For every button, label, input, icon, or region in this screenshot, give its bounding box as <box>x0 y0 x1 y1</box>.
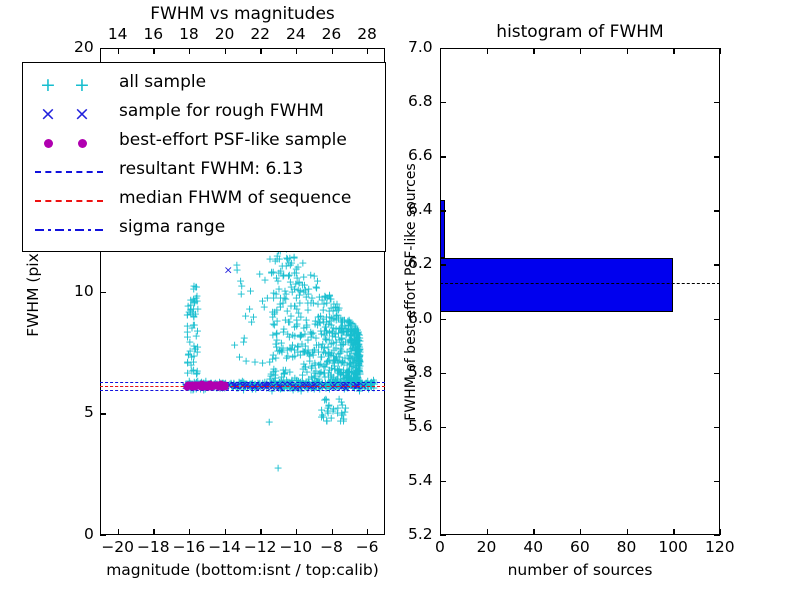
y-tick <box>440 535 446 536</box>
x-tick-label: −20 <box>101 540 134 556</box>
x-tick-label: 40 <box>523 540 543 556</box>
right-panel-xlabel: number of sources <box>508 563 653 579</box>
x-tick <box>487 529 488 535</box>
x-tick-label: 120 <box>705 540 735 556</box>
y-tick <box>100 48 106 49</box>
right-y-tick <box>714 535 720 536</box>
reference-line <box>100 382 385 383</box>
y-tick-label: 5.4 <box>408 473 433 489</box>
data-point-plus: + <box>274 463 283 474</box>
x-tick <box>533 529 534 535</box>
data-point-plus: + <box>326 293 335 304</box>
y-tick <box>440 373 446 374</box>
data-point-plus: + <box>245 303 254 314</box>
x-tick <box>153 529 154 535</box>
top-x-tick <box>118 48 119 54</box>
data-point-plus: + <box>288 340 297 351</box>
legend-entry: ××sample for rough FWHM <box>23 100 387 128</box>
data-point-plus: + <box>307 363 316 374</box>
y-tick <box>440 48 446 49</box>
data-point-plus: + <box>183 320 192 331</box>
legend-label: sample for rough FWHM <box>119 103 324 120</box>
data-point-plus: + <box>338 399 347 410</box>
y-tick <box>440 102 446 103</box>
data-point-plus: + <box>189 284 198 295</box>
right-y-tick <box>714 264 720 265</box>
x-tick <box>627 529 628 535</box>
legend-entry: ++all sample <box>23 71 387 99</box>
data-point-plus: + <box>311 282 320 293</box>
data-point-plus: + <box>236 275 245 286</box>
data-point-cross: × <box>224 264 233 275</box>
top-x-tick <box>153 48 154 54</box>
y-tick <box>440 210 446 211</box>
right-y-tick <box>714 481 720 482</box>
data-point-plus: + <box>260 302 269 313</box>
top-x-tick <box>627 48 628 54</box>
top-x-tick <box>296 48 297 54</box>
right-y-tick <box>714 319 720 320</box>
legend-cross-icon: × <box>71 100 93 128</box>
left-panel-ylabel: FWHM (pix) <box>26 247 42 337</box>
top-x-tick-label: 16 <box>143 27 163 43</box>
data-point-plus: + <box>316 352 325 363</box>
right-y-tick <box>714 102 720 103</box>
y-tick-label: 0 <box>84 527 94 543</box>
legend-entry: median FHWM of sequence <box>23 187 387 215</box>
data-point-plus: + <box>302 291 311 302</box>
y-tick <box>100 413 106 414</box>
legend-line-icon <box>35 229 103 231</box>
data-point-plus: + <box>300 329 309 340</box>
y-tick-label: 5.6 <box>408 419 433 435</box>
data-point-circle <box>184 384 191 391</box>
x-tick-label: −10 <box>279 540 312 556</box>
data-point-circle <box>193 382 200 389</box>
legend-circle-icon <box>37 129 59 157</box>
data-point-plus: + <box>292 292 301 303</box>
top-x-tick-label: 26 <box>322 27 342 43</box>
x-tick-label: 100 <box>658 540 688 556</box>
reference-line <box>100 390 385 391</box>
figure-canvas: FWHM vs magnitudes +++++++++++++++++++++… <box>0 0 800 600</box>
y-tick-label: 20 <box>74 40 94 56</box>
data-point-plus: + <box>246 285 255 296</box>
y-tick-label: 6.6 <box>408 148 433 164</box>
top-x-tick-label: 14 <box>108 27 128 43</box>
legend-entry: resultant FWHM: 6.13 <box>23 158 387 186</box>
top-x-tick <box>189 48 190 54</box>
y-tick <box>100 535 106 536</box>
histogram-data-layer <box>440 48 720 535</box>
x-tick <box>260 529 261 535</box>
top-x-tick <box>673 48 674 54</box>
top-x-tick <box>533 48 534 54</box>
x-tick-label: 80 <box>617 540 637 556</box>
legend-entry: sigma range <box>23 216 387 244</box>
y-tick <box>440 264 446 265</box>
x-tick-label: −14 <box>208 540 241 556</box>
right-panel-title: histogram of FWHM <box>496 24 663 41</box>
right-y-tick <box>714 373 720 374</box>
top-x-tick <box>580 48 581 54</box>
data-point-plus: + <box>233 264 242 275</box>
x-tick <box>118 529 119 535</box>
top-x-tick-label: 18 <box>179 27 199 43</box>
data-point-plus: + <box>354 344 363 355</box>
data-point-cross: × <box>341 382 350 393</box>
histogram-bar <box>440 200 445 258</box>
right-y-tick <box>714 210 720 211</box>
top-x-tick <box>720 48 721 54</box>
y-tick-label: 6.8 <box>408 94 433 110</box>
y-tick-label: 7.0 <box>408 40 433 56</box>
data-point-plus: + <box>323 406 332 417</box>
data-point-plus: + <box>275 298 284 309</box>
right-y-tick <box>714 156 720 157</box>
y-tick <box>440 427 446 428</box>
x-tick-label: −18 <box>137 540 170 556</box>
x-tick <box>225 529 226 535</box>
right-y-tick <box>714 427 720 428</box>
x-tick-label: −8 <box>320 540 343 556</box>
data-point-circle <box>210 382 217 389</box>
top-x-tick <box>225 48 226 54</box>
data-point-plus: + <box>292 318 301 329</box>
data-point-plus: + <box>291 278 300 289</box>
y-tick <box>440 156 446 157</box>
x-tick <box>367 529 368 535</box>
left-panel-title: FWHM vs magnitudes <box>150 6 335 23</box>
data-point-cross: × <box>285 379 294 390</box>
y-tick-label: 5.2 <box>408 527 433 543</box>
legend-line-icon <box>35 200 103 202</box>
data-point-plus: + <box>277 347 286 358</box>
data-point-circle <box>221 381 228 388</box>
data-point-plus: + <box>250 357 259 368</box>
legend-label: sigma range <box>119 219 225 236</box>
y-tick <box>440 481 446 482</box>
x-tick <box>189 529 190 535</box>
data-point-cross: × <box>264 379 273 390</box>
data-point-plus: + <box>267 266 276 277</box>
data-point-plus: + <box>255 269 264 280</box>
legend-cross-icon: × <box>37 100 59 128</box>
x-tick-label: −16 <box>173 540 206 556</box>
x-tick-label: 20 <box>477 540 497 556</box>
x-tick <box>580 529 581 535</box>
top-x-tick-label: 24 <box>286 27 306 43</box>
data-point-plus: + <box>185 336 194 347</box>
legend-label: best-effort PSF-like sample <box>119 132 347 149</box>
y-tick <box>440 319 446 320</box>
top-x-tick <box>487 48 488 54</box>
y-tick-label: 5 <box>84 405 94 421</box>
legend-label: median FHWM of sequence <box>119 190 351 207</box>
right-panel-ylabel: FWHM of best-effort PSF-like sources <box>404 163 418 420</box>
legend-label: resultant FWHM: 6.13 <box>119 161 303 178</box>
reference-line <box>100 386 385 387</box>
data-point-plus: + <box>332 351 341 362</box>
top-x-tick-label: 28 <box>357 27 377 43</box>
legend-label: all sample <box>119 74 206 91</box>
right-y-tick <box>714 48 720 49</box>
legend: ++all sample××sample for rough FWHMbest-… <box>22 62 386 252</box>
left-panel-xlabel: magnitude (bottom:isnt / top:calib) <box>106 563 379 579</box>
data-point-plus: + <box>306 269 315 280</box>
data-point-plus: + <box>338 323 347 334</box>
data-point-plus: + <box>240 332 249 343</box>
data-point-plus: + <box>276 266 285 277</box>
histogram-reference-line <box>440 283 720 284</box>
data-point-plus: + <box>265 416 274 427</box>
x-tick-label: 60 <box>570 540 590 556</box>
top-x-tick-label: 20 <box>215 27 235 43</box>
legend-plus-icon: + <box>37 71 59 99</box>
data-point-plus: + <box>272 328 281 339</box>
x-tick <box>720 529 721 535</box>
x-tick-label: −6 <box>356 540 379 556</box>
top-x-tick-label: 22 <box>250 27 270 43</box>
x-tick-label: 0 <box>435 540 445 556</box>
data-point-plus: + <box>193 366 202 377</box>
data-point-plus: + <box>230 340 239 351</box>
data-point-plus: + <box>282 253 291 264</box>
x-tick-label: −12 <box>244 540 277 556</box>
data-point-plus: + <box>334 303 343 314</box>
top-x-tick <box>260 48 261 54</box>
y-tick <box>100 292 106 293</box>
data-point-plus: + <box>242 355 251 366</box>
x-tick <box>332 529 333 535</box>
data-point-plus: + <box>313 319 322 330</box>
legend-entry: best-effort PSF-like sample <box>23 129 387 157</box>
data-point-plus: + <box>349 333 358 344</box>
data-point-plus: + <box>269 366 278 377</box>
x-tick <box>673 529 674 535</box>
x-tick <box>296 529 297 535</box>
data-point-plus: + <box>184 300 193 311</box>
y-tick-label: 10 <box>74 284 94 300</box>
top-x-tick <box>332 48 333 54</box>
legend-plus-icon: + <box>71 71 93 99</box>
legend-circle-icon <box>71 129 93 157</box>
legend-line-icon <box>35 171 103 173</box>
histogram-bar <box>440 258 673 312</box>
top-x-tick <box>367 48 368 54</box>
